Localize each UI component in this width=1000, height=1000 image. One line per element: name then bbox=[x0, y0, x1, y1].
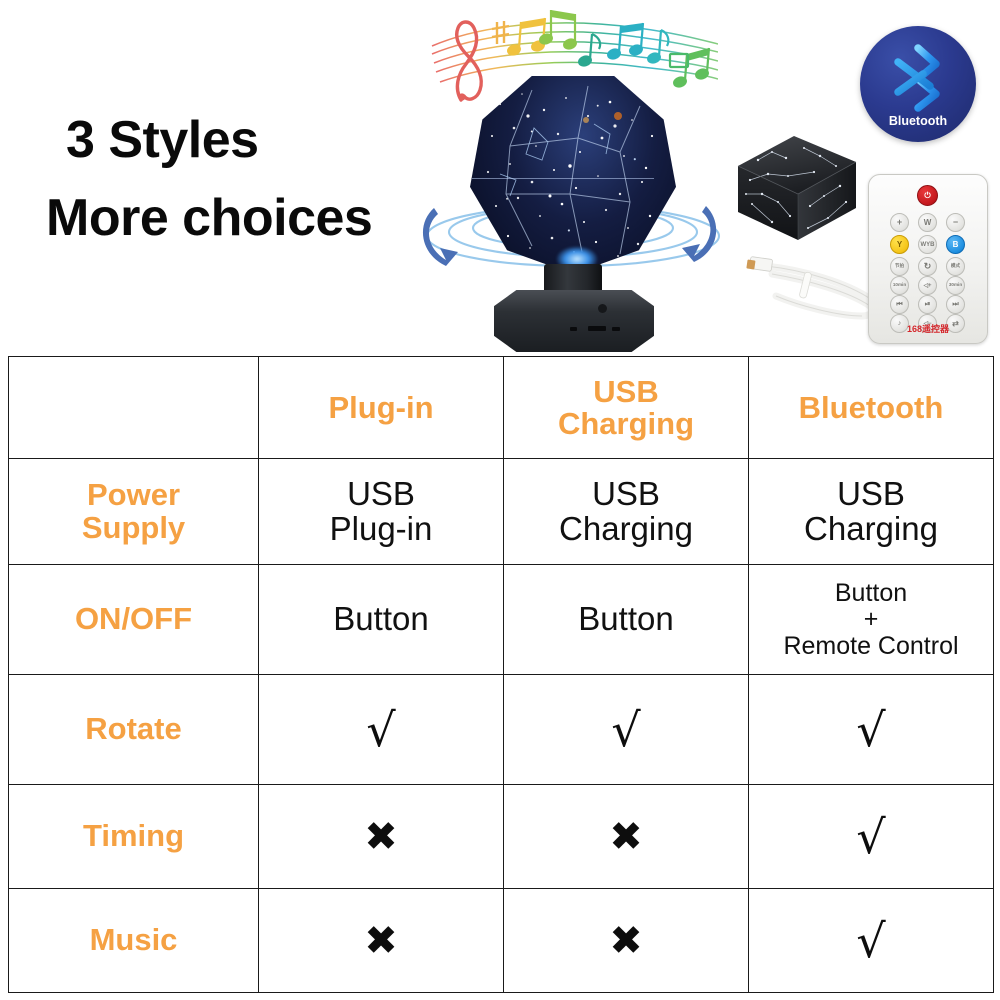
cell-power-plug-in: USB Plug-in bbox=[259, 459, 504, 565]
cross-mark: ✖ bbox=[263, 921, 499, 961]
cell-onoff-plug-in: Button bbox=[259, 565, 504, 675]
header-cell-bluetooth: Bluetooth bbox=[749, 357, 994, 459]
header-cell-usb-charging: USB Charging bbox=[504, 357, 749, 459]
cell-onoff-usb-charging: Button bbox=[504, 565, 749, 675]
remote-previous-track-button[interactable]: ⏮ bbox=[890, 295, 909, 314]
remote-play-pause-button[interactable]: ⏯ bbox=[918, 295, 937, 314]
remote-body: ⏻ + W − Y WYB B 节拍 ↻ 模式 10min ◁+ 30min ⏮… bbox=[868, 174, 988, 344]
remote-timer-10min-button[interactable]: 10min bbox=[890, 276, 909, 295]
table-row: Music ✖ ✖ √ bbox=[9, 889, 994, 993]
remote-brightness-up-button[interactable]: + bbox=[890, 213, 909, 232]
check-mark: √ bbox=[753, 707, 989, 753]
header-cell-blank bbox=[9, 357, 259, 459]
remote-control-icon: ⏻ + W − Y WYB B 节拍 ↻ 模式 10min ◁+ 30min ⏮… bbox=[868, 174, 988, 344]
remote-model-label: 168遥控器 bbox=[869, 322, 987, 335]
remote-timer-30min-button[interactable]: 30min bbox=[946, 276, 965, 295]
table-row: ON/OFF Button Button Button + Remote Con… bbox=[9, 565, 994, 675]
check-mark: √ bbox=[753, 918, 989, 964]
page-title-line2: More choices bbox=[46, 188, 372, 248]
cell-timing-plug-in: ✖ bbox=[259, 785, 504, 889]
cell-timing-bluetooth: √ bbox=[749, 785, 994, 889]
cross-mark: ✖ bbox=[263, 817, 499, 857]
remote-beat-button[interactable]: 节拍 bbox=[890, 257, 909, 276]
check-mark: √ bbox=[753, 814, 989, 860]
remote-next-track-button[interactable]: ⏭ bbox=[946, 295, 965, 314]
row-label-timing: Timing bbox=[9, 785, 259, 889]
table-row: Rotate √ √ √ bbox=[9, 675, 994, 785]
bluetooth-badge: Bluetooth bbox=[860, 26, 976, 142]
header-cell-plug-in: Plug-in bbox=[259, 357, 504, 459]
row-label-power-supply: Power Supply bbox=[9, 459, 259, 565]
cell-timing-usb-charging: ✖ bbox=[504, 785, 749, 889]
page-title-line1: 3 Styles bbox=[66, 110, 259, 170]
remote-yellow-button[interactable]: Y bbox=[890, 235, 909, 254]
starfield-overlay bbox=[470, 76, 676, 274]
remote-wyb-button[interactable]: WYB bbox=[918, 235, 937, 254]
row-label-on-off: ON/OFF bbox=[9, 565, 259, 675]
remote-mode-button[interactable]: 模式 bbox=[946, 257, 965, 276]
usb-cable-icon bbox=[742, 248, 882, 334]
remote-power-button[interactable]: ⏻ bbox=[917, 185, 938, 206]
check-mark: √ bbox=[508, 707, 744, 753]
cross-mark: ✖ bbox=[508, 921, 744, 961]
bluetooth-badge-label: Bluetooth bbox=[860, 114, 976, 128]
cell-music-usb-charging: ✖ bbox=[504, 889, 749, 993]
check-mark: √ bbox=[263, 707, 499, 753]
feature-comparison-table: Plug-in USB Charging Bluetooth Power Sup… bbox=[8, 356, 994, 993]
row-label-rotate: Rotate bbox=[9, 675, 259, 785]
cross-mark: ✖ bbox=[508, 817, 744, 857]
table-row: Timing ✖ ✖ √ bbox=[9, 785, 994, 889]
cell-music-bluetooth: √ bbox=[749, 889, 994, 993]
remote-blue-button[interactable]: B bbox=[946, 235, 965, 254]
hero-section: 3 Styles More choices bbox=[0, 0, 1000, 356]
cell-rotate-bluetooth: √ bbox=[749, 675, 994, 785]
row-label-music: Music bbox=[9, 889, 259, 993]
remote-white-button[interactable]: W bbox=[918, 213, 937, 232]
remote-brightness-down-button[interactable]: − bbox=[946, 213, 965, 232]
cell-onoff-bluetooth: Button + Remote Control bbox=[749, 565, 994, 675]
cell-music-plug-in: ✖ bbox=[259, 889, 504, 993]
projector-base bbox=[494, 290, 654, 352]
constellation-gift-box-icon bbox=[728, 122, 864, 250]
remote-volume-up-button[interactable]: ◁+ bbox=[918, 276, 937, 295]
table-header-row: Plug-in USB Charging Bluetooth bbox=[9, 357, 994, 459]
remote-rotate-button[interactable]: ↻ bbox=[918, 257, 937, 276]
cell-rotate-usb-charging: √ bbox=[504, 675, 749, 785]
cell-power-bluetooth: USB Charging bbox=[749, 459, 994, 565]
star-projector-icon bbox=[448, 68, 698, 358]
cell-rotate-plug-in: √ bbox=[259, 675, 504, 785]
infographic-page: 3 Styles More choices bbox=[0, 0, 1000, 1000]
table-row: Power Supply USB Plug-in USB Charging US… bbox=[9, 459, 994, 565]
cell-power-usb-charging: USB Charging bbox=[504, 459, 749, 565]
